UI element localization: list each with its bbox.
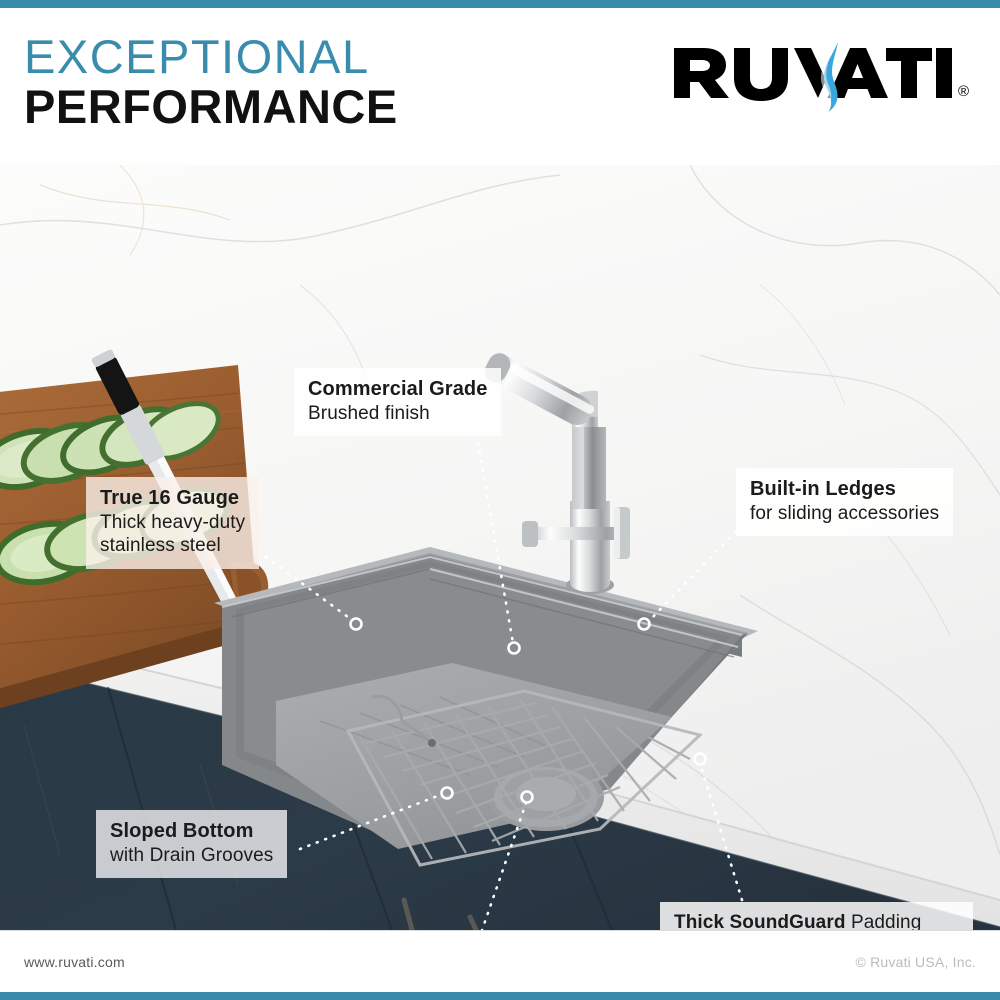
callout-line1-bold: Thick SoundGuard: [674, 912, 846, 930]
header: EXCEPTIONAL PERFORMANCE: [0, 8, 1000, 165]
title-line-performance: PERFORMANCE: [24, 82, 398, 132]
top-accent-bar: [0, 0, 1000, 8]
callout-subtitle-line1: with Drain Grooves: [110, 844, 273, 868]
callout-subtitle-line1: Thick heavy-duty: [100, 511, 245, 535]
title-line-exceptional: EXCEPTIONAL: [24, 32, 398, 82]
footer: www.ruvati.com © Ruvati USA, Inc.: [0, 930, 1000, 1000]
footer-divider: [0, 930, 1000, 931]
callout-subtitle-line1: for sliding accessories: [750, 502, 939, 526]
bottom-accent-bar: [0, 992, 1000, 1000]
footer-copyright: © Ruvati USA, Inc.: [855, 954, 976, 970]
callout-built-in-ledges: Built-in Ledges for sliding accessories: [736, 468, 953, 536]
callout-soundguard-noisedefend: Thick SoundGuard Padding and NoiseDEFEND…: [660, 902, 973, 930]
callout-subtitle-line1: Brushed finish: [308, 402, 487, 426]
callout-true-16-gauge: True 16 Gauge Thick heavy-duty stainless…: [86, 477, 259, 569]
callout-title: Built-in Ledges: [750, 477, 939, 502]
footer-website[interactable]: www.ruvati.com: [24, 954, 125, 970]
callout-title: Commercial Grade: [308, 377, 487, 402]
callout-line1: Thick SoundGuard Padding: [674, 911, 959, 930]
callout-title: Sloped Bottom: [110, 819, 273, 844]
callout-subtitle-line2: stainless steel: [100, 534, 245, 558]
infographic-page: EXCEPTIONAL PERFORMANCE: [0, 0, 1000, 1000]
ruvati-logo: ®: [672, 40, 972, 112]
page-title: EXCEPTIONAL PERFORMANCE: [24, 32, 398, 132]
callout-sloped-bottom: Sloped Bottom with Drain Grooves: [96, 810, 287, 878]
trademark-symbol: ®: [958, 83, 969, 100]
callout-commercial-grade: Commercial Grade Brushed finish: [294, 368, 501, 436]
callout-title: True 16 Gauge: [100, 486, 245, 511]
product-photo: True 16 Gauge Thick heavy-duty stainless…: [0, 165, 1000, 930]
callout-line1-rest: Padding: [846, 912, 922, 930]
